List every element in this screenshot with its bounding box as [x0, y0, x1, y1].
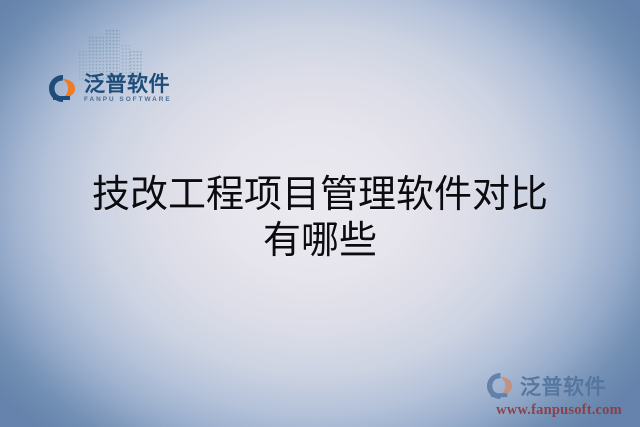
- brand-logo: 泛普软件 FANPU SOFTWARE: [48, 74, 172, 103]
- slide-canvas: 泛普软件 FANPU SOFTWARE 技改工程项目管理软件对比 有哪些 泛普软…: [0, 0, 640, 427]
- brand-name-cn: 泛普软件: [84, 74, 172, 95]
- fanpu-swoosh-mark-icon: [486, 372, 515, 400]
- slide-headline: 技改工程项目管理软件对比 有哪些: [0, 172, 640, 264]
- halftone-dot-skyline-decoration: [78, 22, 144, 80]
- brand-wordmark: 泛普软件 FANPU SOFTWARE: [84, 74, 172, 103]
- watermark-logo-row: 泛普软件: [486, 371, 632, 401]
- watermark-brand-cn: 泛普软件: [520, 371, 606, 401]
- watermark: 泛普软件 www.fanpusoft.com: [486, 371, 632, 419]
- fanpu-swoosh-mark-icon: [48, 74, 78, 103]
- watermark-url: www.fanpusoft.com: [486, 402, 632, 419]
- brand-name-en: FANPU SOFTWARE: [84, 97, 172, 103]
